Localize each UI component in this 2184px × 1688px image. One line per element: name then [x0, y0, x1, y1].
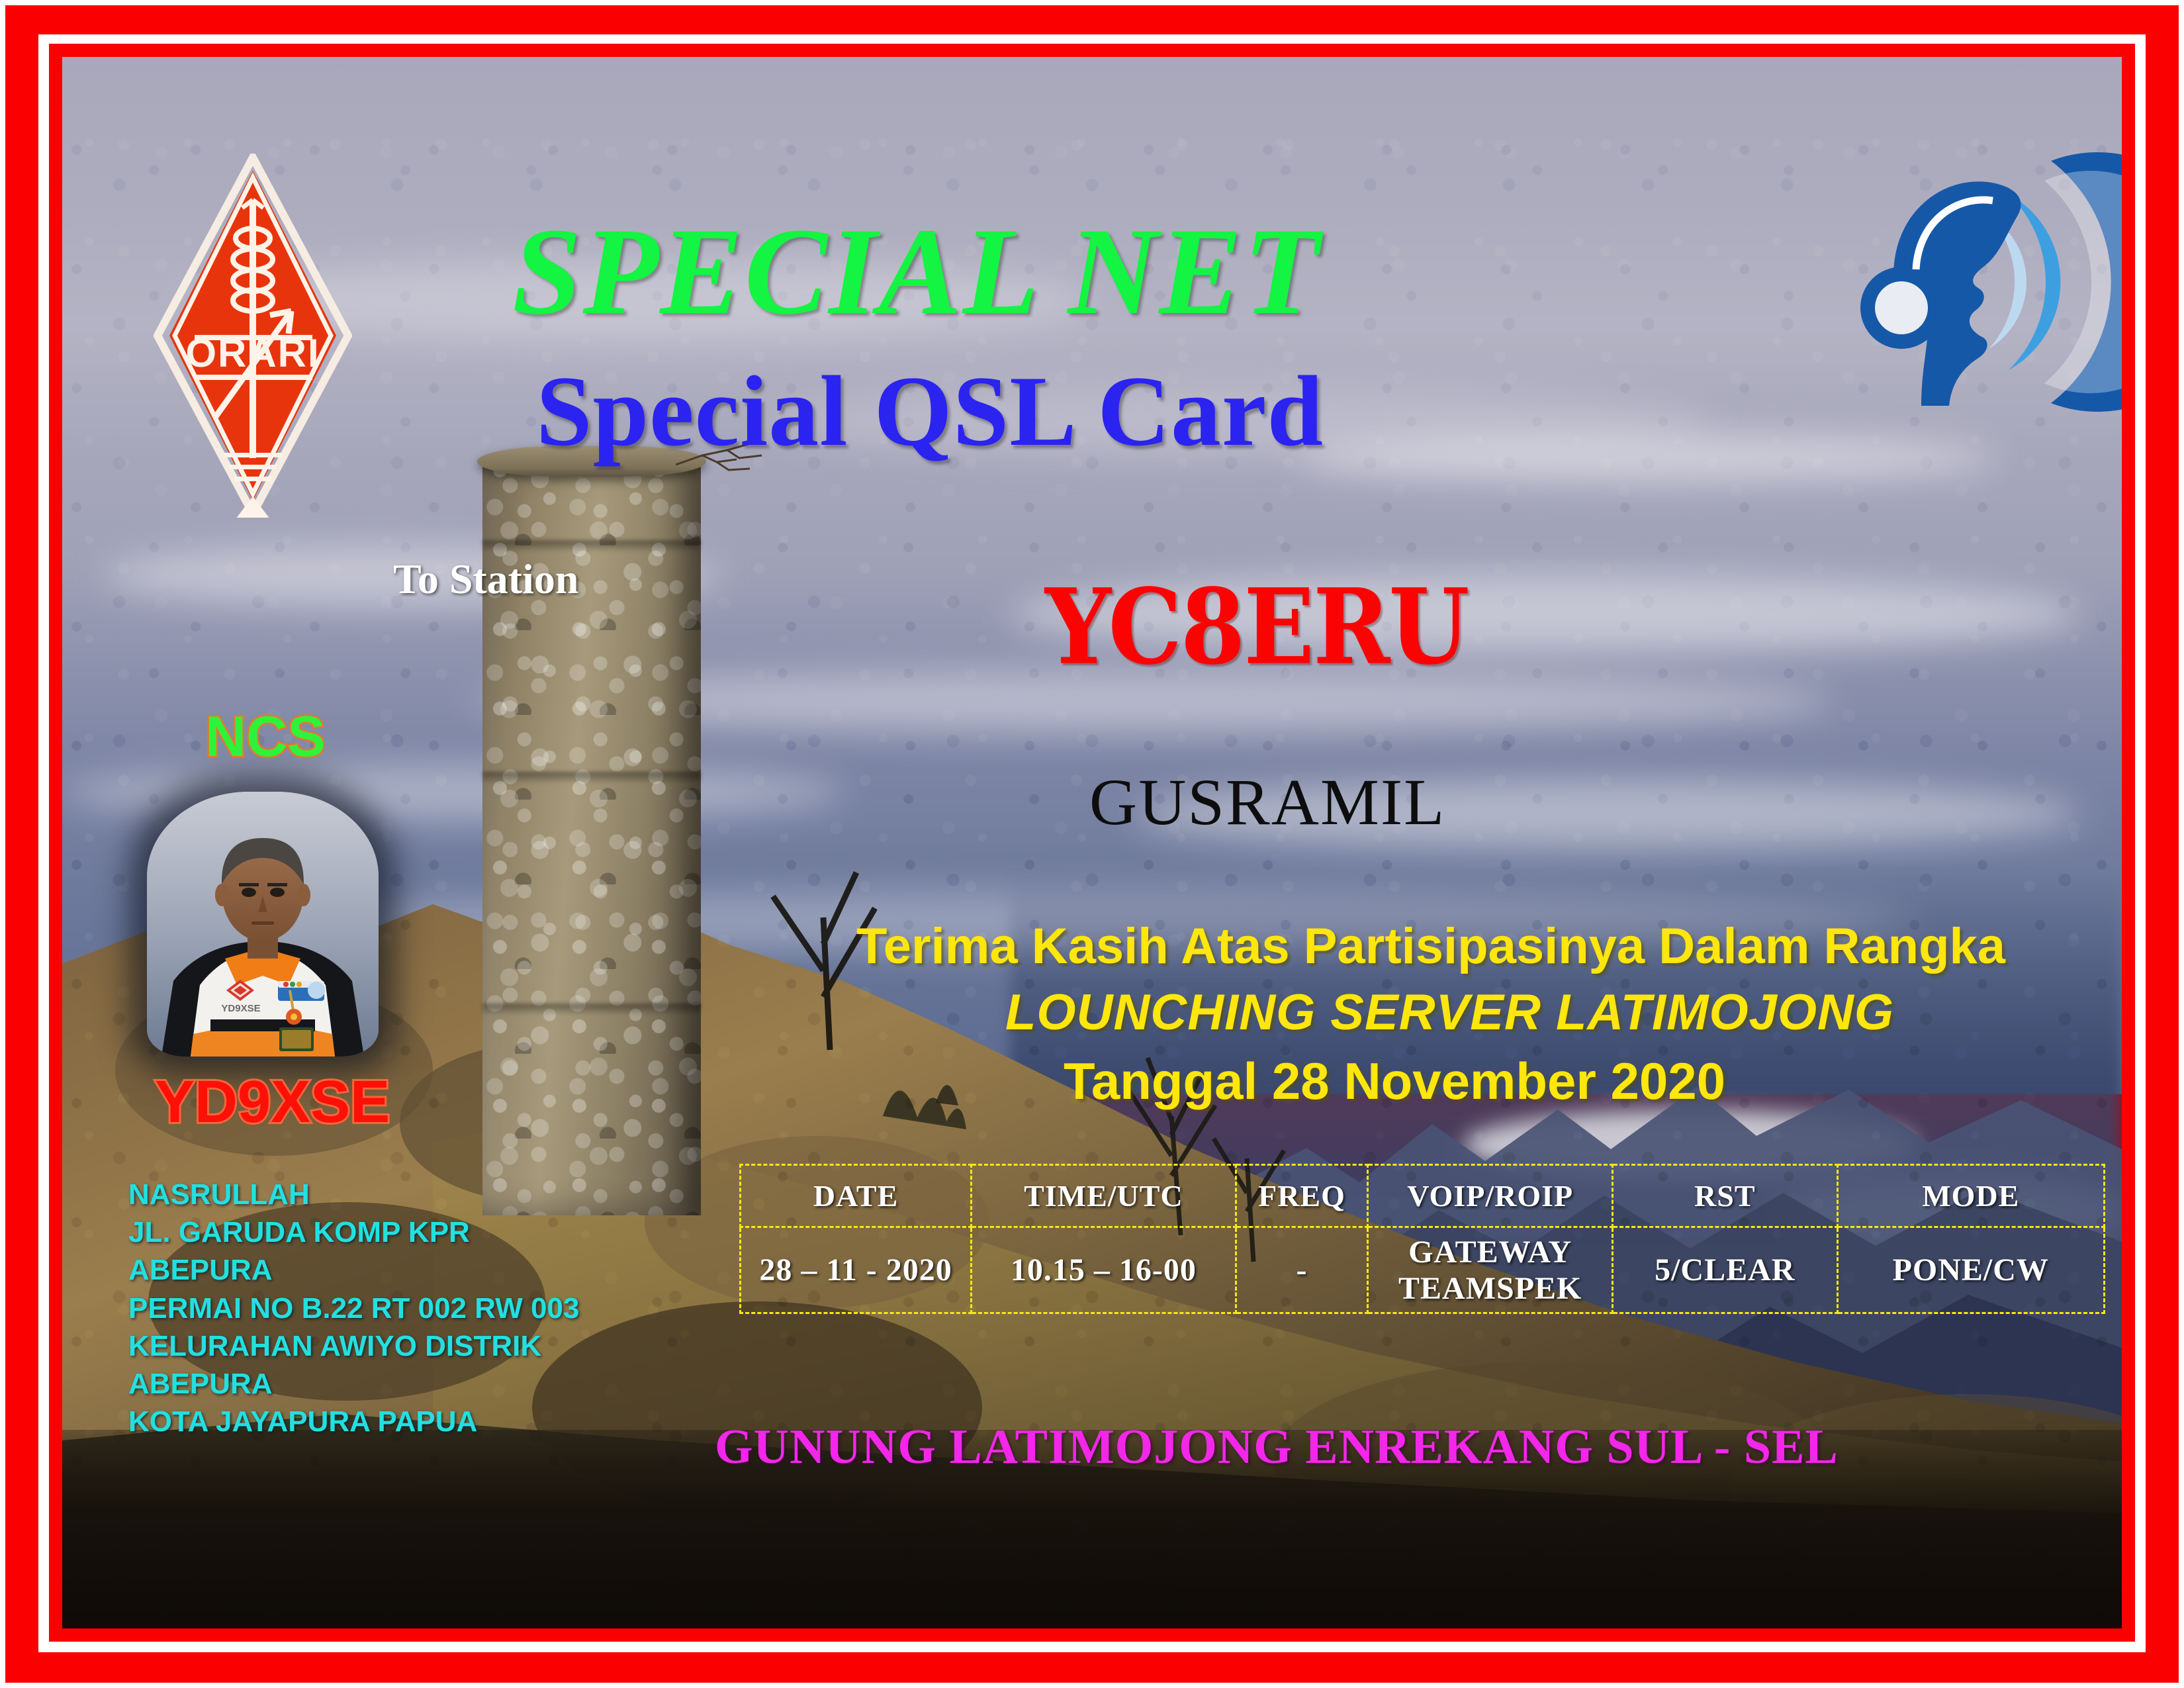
cell-voip-roip: GATEWAY TEAMSPEK — [1368, 1227, 1613, 1313]
qso-log-table: DATE TIME/UTC FREQ VOIP/ROIP RST MODE 28… — [739, 1164, 2105, 1314]
page-title: SPECIAL NET — [512, 199, 1321, 343]
to-station-label: To Station — [393, 555, 578, 604]
cairn-seam — [482, 1004, 701, 1014]
headphone-head-soundwave-logo — [1852, 146, 2122, 418]
thanks-line-2: LOUNCHING SERVER LATIMOJONG — [1005, 984, 1894, 1041]
cell-freq: - — [1236, 1227, 1368, 1313]
table-header-row: DATE TIME/UTC FREQ VOIP/ROIP RST MODE — [741, 1165, 2105, 1227]
thanks-line-1: Terima Kasih Atas Partisipasinya Dalam R… — [856, 917, 2005, 975]
address-line: KOTA JAYAPURA PAPUA — [128, 1403, 579, 1440]
thanks-line-3: Tanggal 28 November 2020 — [1064, 1051, 1725, 1111]
card-photo-background: ORARI — [62, 57, 2122, 1628]
cairn-seam — [482, 540, 701, 551]
column-header-mode: MODE — [1837, 1165, 2104, 1227]
station-address-block: NASRULLAH JL. GARUDA KOMP KPR ABEPURA PE… — [128, 1176, 579, 1440]
station-callsign: YC8ERU — [1045, 567, 1468, 688]
address-line: ABEPURA — [128, 1251, 579, 1289]
table-row: 28 – 11 - 2020 10.15 – 16-00 - GATEWAY T… — [741, 1227, 2105, 1313]
address-line: NASRULLAH — [128, 1176, 579, 1213]
cell-time: 10.15 – 16-00 — [972, 1227, 1236, 1313]
station-operator-name: GUSRAMIL — [1089, 764, 1445, 840]
orari-diamond-logo: ORARI — [154, 154, 352, 518]
column-header-time: TIME/UTC — [972, 1165, 1236, 1227]
address-line: PERMAI NO B.22 RT 002 RW 003 — [128, 1289, 579, 1327]
shirt-callsign-patch: YD9XSE — [221, 1003, 260, 1014]
column-header-freq: FREQ — [1236, 1165, 1368, 1227]
cell-mode: PONE/CW — [1837, 1227, 2104, 1313]
column-header-rst: RST — [1613, 1165, 1838, 1227]
address-line: ABEPURA — [128, 1365, 579, 1403]
column-header-voip-roip: VOIP/ROIP — [1368, 1165, 1613, 1227]
operator-callsign: YD9XSE — [155, 1068, 390, 1137]
page-subtitle: Special QSL Card — [536, 353, 1324, 469]
address-line: JL. GARUDA KOMP KPR — [128, 1213, 579, 1251]
cell-date: 28 – 11 - 2020 — [741, 1227, 972, 1313]
operator-portrait-photo: YD9XSE — [147, 792, 379, 1056]
ncs-role-badge: NCS — [205, 704, 326, 770]
address-line: KELURAHAN AWIYO DISTRIK — [128, 1327, 579, 1365]
column-header-date: DATE — [741, 1165, 972, 1227]
cairn-seam — [482, 772, 701, 782]
cell-rst: 5/CLEAR — [1613, 1227, 1838, 1313]
orari-wordmark: ORARI — [185, 331, 320, 375]
location-label: GUNUNG LATIMOJONG ENREKANG SUL - SEL — [715, 1419, 1839, 1476]
qsl-card: ORARI — [0, 0, 2184, 1688]
